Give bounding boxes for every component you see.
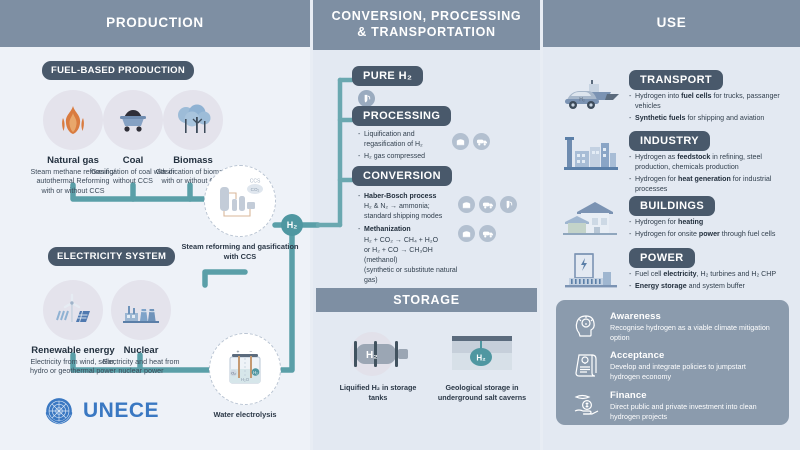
process-steam-reforming: CO₂ CCS Steam reforming and gasification… — [180, 165, 300, 261]
factory-icon — [561, 131, 623, 183]
source-title: Nuclear — [98, 345, 184, 356]
car-ship-icon: H₂ — [561, 70, 623, 122]
head-idea-icon — [572, 311, 602, 341]
bullet-bold: fuel cells — [681, 92, 711, 100]
conversion-item-title: Haber-Bosch process — [364, 193, 436, 200]
conversion-item-methanization: Methanization H₂ + CO₂ → CH₄ + H₂O or H₂… — [358, 225, 463, 286]
svg-text:H₂O: H₂O — [241, 377, 250, 382]
use-header: USE — [543, 0, 800, 47]
bullet-pre: Hydrogen into — [635, 92, 681, 100]
use-bullet: Energy storage and system buffer — [629, 282, 797, 292]
electrolysis-icon: + − O₂ H₂ H₂O — [209, 333, 281, 405]
processing-label: PROCESSING — [352, 106, 451, 126]
process-caption: Steam reforming and gasification with CC… — [180, 242, 300, 261]
processing-bullets: Liquification and regasification of H₂ H… — [358, 130, 448, 164]
fuel-based-production-label-wrap: FUEL-BASED PRODUCTION — [42, 60, 194, 80]
bullet-bold: heat generation — [678, 175, 731, 183]
processing-bullet: Liquification and regasification of H₂ — [358, 130, 448, 150]
use-bullet: Hydrogen for heating — [629, 218, 797, 228]
conversion-label: CONVERSION — [352, 166, 452, 186]
svg-text:O₂: O₂ — [231, 371, 236, 376]
bullet-post: for shipping and aviation — [685, 114, 764, 122]
storage-tank-icon — [458, 196, 475, 213]
bullet-bold: power — [699, 230, 720, 238]
conversion-item-haber-bosch: Haber-Bosch process H₂ & N₂ → ammonia; s… — [358, 192, 463, 222]
use-section-industry: INDUSTRY Hydrogen as feedstock in refini… — [543, 131, 800, 193]
trees-icon — [163, 90, 223, 150]
conversion-header-line1: CONVERSION, PROCESSING — [332, 9, 522, 25]
fuel-nozzle-icon — [500, 196, 517, 213]
enabler-title: Finance — [610, 390, 777, 401]
svg-text:H₂: H₂ — [579, 97, 585, 103]
bullet-pre: Hydrogen as — [635, 153, 677, 161]
use-section-body: BUILDINGS Hydrogen for heating Hydrogen … — [629, 196, 797, 240]
bullet-bold: feedstock — [677, 153, 710, 161]
conversion-item-title: Methanization — [364, 226, 411, 233]
refinery-ccs-icon: CO₂ CCS — [204, 165, 276, 237]
power-plant-icon — [561, 248, 623, 300]
unece-logo: UNECE — [40, 392, 159, 430]
use-bullet: Fuel cell electricity, H₂ turbines and H… — [629, 270, 797, 280]
conversion-item-line: (synthetic or substitute natural gas) — [364, 266, 463, 286]
storage-tank-icon — [452, 133, 469, 150]
transport-label: TRANSPORT — [629, 70, 723, 90]
processing-bullet: H₂ gas compressed — [358, 152, 448, 162]
use-bullet: Hydrogen into fuel cells for trucks, pas… — [629, 92, 797, 112]
enabler-title: Awareness — [610, 311, 777, 322]
process-caption: Water electrolysis — [185, 410, 305, 420]
conversion-item-line: H₂ + CO₂ → CH₄ + H₂O — [364, 236, 463, 246]
wind-solar-icon — [43, 280, 103, 340]
electricity-system-label: ELECTRICITY SYSTEM — [48, 247, 175, 266]
svg-text:H₂: H₂ — [366, 350, 378, 361]
pure-h2-icons — [358, 90, 375, 107]
conversion-item-line: H₂ & N₂ → ammonia; — [364, 202, 463, 212]
storage-header: STORAGE — [316, 288, 537, 312]
electricity-system-label-wrap: ELECTRICITY SYSTEM — [48, 246, 175, 266]
truck-icon — [473, 133, 490, 150]
nuclear-plant-icon — [111, 280, 171, 340]
enabler-desc: Recognise hydrogen as a viable climate m… — [610, 323, 777, 342]
pure-h2-block: PURE H₂ — [352, 66, 423, 86]
svg-text:H₂: H₂ — [253, 370, 258, 375]
bullet-pre: Hydrogen for — [635, 175, 678, 183]
haber-bosch-icons — [458, 196, 517, 213]
bullet-bold: heating — [678, 218, 703, 226]
hand-coin-icon — [572, 390, 602, 420]
use-section-power: POWER Fuel cell electricity, H₂ turbines… — [543, 248, 800, 300]
source-desc: Electricity and heat from nuclear power — [98, 357, 184, 376]
use-section-buildings: BUILDINGS Hydrogen for heating Hydrogen … — [543, 196, 800, 252]
enabler-awareness: Awareness Recognise hydrogen as a viable… — [568, 311, 777, 342]
bullet-bold: Energy storage — [635, 282, 687, 290]
use-bullet: Synthetic fuels for shipping and aviatio… — [629, 114, 797, 124]
bullet-bold: electricity — [663, 270, 696, 278]
bullet-post: and system buffer — [687, 282, 745, 290]
enabler-desc: Direct public and private investment int… — [610, 402, 777, 421]
use-section-body: POWER Fuel cell electricity, H₂ turbines… — [629, 248, 797, 292]
conversion-header-line2: & TRANSPORTATION — [332, 25, 522, 41]
conversion-bullets: Haber-Bosch process H₂ & N₂ → ammonia; s… — [358, 192, 463, 288]
salt-cavern-icon: H₂ — [434, 330, 530, 378]
pure-h2-label: PURE H₂ — [352, 66, 423, 86]
bullet-post: , H₂ turbines and H₂ CHP — [697, 270, 777, 278]
truck-icon — [479, 196, 496, 213]
svg-text:CO₂: CO₂ — [251, 187, 260, 192]
fuel-nozzle-icon — [358, 90, 375, 107]
unece-wordmark: UNECE — [83, 399, 159, 423]
use-section-body: INDUSTRY Hydrogen as feedstock in refini… — [629, 131, 797, 195]
svg-text:H₂: H₂ — [476, 354, 486, 363]
enabler-finance: Finance Direct public and private invest… — [568, 390, 777, 421]
infographic-canvas: PRODUCTION CONVERSION, PROCESSING & TRAN… — [0, 0, 800, 450]
svg-text:+: + — [237, 350, 240, 356]
use-bullet: Hydrogen for heat generation for industr… — [629, 175, 797, 195]
process-water-electrolysis: + − O₂ H₂ H₂O Water electrolysis — [185, 333, 305, 420]
bullet-bold: Synthetic fuels — [635, 114, 685, 122]
enabler-title: Acceptance — [610, 350, 777, 361]
lh2-tank-icon: H₂ — [330, 330, 426, 378]
bullet-pre: Hydrogen for onsite — [635, 230, 699, 238]
un-emblem-icon — [40, 392, 78, 430]
storage-item-geological: H₂ Geological storage in underground sal… — [434, 330, 530, 402]
use-bullet: Hydrogen as feedstock in refining, steel… — [629, 153, 797, 173]
processing-icons — [452, 133, 490, 150]
bullet-pre: Fuel cell — [635, 270, 663, 278]
fuel-based-production-label: FUEL-BASED PRODUCTION — [42, 61, 194, 80]
use-section-body: TRANSPORT Hydrogen into fuel cells for t… — [629, 70, 797, 124]
conversion-item-line: standard shipping modes — [364, 212, 463, 222]
production-header: PRODUCTION — [0, 0, 310, 47]
storage-item-liquified: H₂ Liquified H₂ in storage tanks — [330, 330, 426, 402]
bullet-pre: Hydrogen for — [635, 218, 678, 226]
enablers-card: Awareness Recognise hydrogen as a viable… — [556, 300, 789, 425]
policy-document-icon — [572, 350, 602, 380]
storage-caption: Liquified H₂ in storage tanks — [330, 383, 426, 402]
source-nuclear: Nuclear Electricity and heat from nuclea… — [98, 280, 184, 376]
processing-block: PROCESSING — [352, 106, 451, 126]
conversion-block: CONVERSION — [352, 166, 452, 186]
power-label: POWER — [629, 248, 695, 268]
bullet-post: through fuel cells — [720, 230, 776, 238]
use-section-transport: H₂ TRANSPORT Hydrogen into fuel cells fo… — [543, 70, 800, 130]
use-bullet: Hydrogen for onsite power through fuel c… — [629, 230, 797, 240]
truck-icon — [479, 225, 496, 242]
enabler-acceptance: Acceptance Develop and integrate policie… — [568, 350, 777, 381]
methanization-icons — [458, 225, 496, 242]
svg-text:CCS: CCS — [250, 179, 261, 185]
svg-text:−: − — [250, 350, 253, 356]
conversion-item-line: or H₂ + CO → CH₃OH (methanol) — [364, 246, 463, 266]
buildings-label: BUILDINGS — [629, 196, 715, 216]
enabler-desc: Develop and integrate policies to jumpst… — [610, 362, 777, 381]
house-icon — [561, 196, 623, 248]
storage-tank-icon — [458, 225, 475, 242]
storage-caption: Geological storage in underground salt c… — [434, 383, 530, 402]
conversion-header: CONVERSION, PROCESSING & TRANSPORTATION — [313, 0, 540, 50]
industry-label: INDUSTRY — [629, 131, 710, 151]
